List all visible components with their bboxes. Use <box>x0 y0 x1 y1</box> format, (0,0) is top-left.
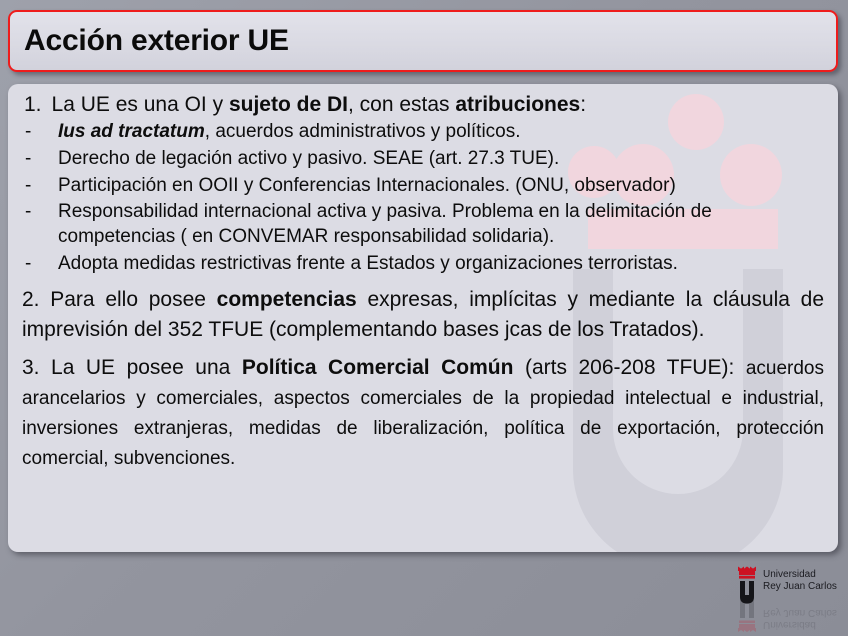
bullet-4-text: Adopta medidas restrictivas frente a Est… <box>58 253 678 274</box>
bullet-dash-marker: - <box>25 252 31 277</box>
paragraph-item-3: 3. La UE posee una Política Comercial Co… <box>18 353 826 473</box>
slide-title-box: Acción exterior UE <box>8 10 838 72</box>
bullet-dash-marker: - <box>25 147 31 172</box>
item-1-bold-sujeto-de-di: sujeto de DI <box>229 93 348 116</box>
urjc-logo-text: Universidad Rey Juan Carlos <box>763 569 837 592</box>
urjc-logo-reflection: Universidad Rey Juan Carlos <box>733 608 839 634</box>
item-1-bold-atribuciones: atribuciones <box>455 93 580 116</box>
bullet-2-text: Participación en OOII y Conferencias Int… <box>58 175 676 196</box>
bullet-1-text: Derecho de legación activo y pasivo. SEA… <box>58 148 559 169</box>
item-1-text-a: La UE es una OI y <box>52 93 229 116</box>
list-item-1-heading: 1.La UE es una OI y sujeto de DI, con es… <box>18 91 826 118</box>
bullet-item-derecho-de-legacion: -Derecho de legación activo y pasivo. SE… <box>18 147 826 172</box>
urjc-crown-u-icon <box>733 566 761 608</box>
paragraph-item-2: 2. Para ello posee competencias expresas… <box>18 285 826 345</box>
item-1-text-b: , con estas <box>348 93 455 116</box>
logo-line-1: Universidad <box>763 619 837 631</box>
bullet-dash-marker: - <box>25 174 31 199</box>
item-2-lead: 2. Para ello posee <box>22 288 217 311</box>
bullet-item-responsabilidad-internacional: -Responsabilidad internacional activa y … <box>18 200 826 249</box>
slide-canvas: Acción exterior UE 1.La UE es una OI y s… <box>0 0 848 636</box>
slide-body: 1.La UE es una OI y sujeto de DI, con es… <box>8 84 838 473</box>
item-1-number: 1. <box>24 93 42 116</box>
bullet-item-participacion-ooii: -Participación en OOII y Conferencias In… <box>18 174 826 199</box>
item-1-text-c: : <box>580 93 586 116</box>
bullet-0-italic: Ius ad tractatum <box>58 121 205 142</box>
bullet-3-text: Responsabilidad internacional activa y p… <box>58 201 712 247</box>
urjc-logo-text-reflection: Universidad Rey Juan Carlos <box>763 607 837 630</box>
item-3-mid: (arts 206-208 TFUE): <box>513 356 745 379</box>
urjc-logo: Universidad Rey Juan Carlos <box>733 565 839 609</box>
bullet-0-text: , acuerdos administrativos y políticos. <box>205 121 521 142</box>
item-2-bold-competencias: competencias <box>217 288 357 311</box>
bullet-item-ius-ad-tractatum: -Ius ad tractatum, acuerdos administrati… <box>18 120 826 145</box>
bullet-dash-marker: - <box>25 120 31 145</box>
slide-content-box: 1.La UE es una OI y sujeto de DI, con es… <box>8 84 838 552</box>
bullet-item-medidas-restrictivas: -Adopta medidas restrictivas frente a Es… <box>18 252 826 277</box>
page-title: Acción exterior UE <box>10 26 289 56</box>
bullet-dash-marker: - <box>25 200 31 225</box>
logo-line-1: Universidad <box>763 569 837 581</box>
logo-line-2: Rey Juan Carlos <box>763 581 837 593</box>
item-3-bold-politica-comercial-comun: Política Comercial Común <box>242 356 514 379</box>
item-3-lead: 3. La UE posee una <box>22 356 242 379</box>
